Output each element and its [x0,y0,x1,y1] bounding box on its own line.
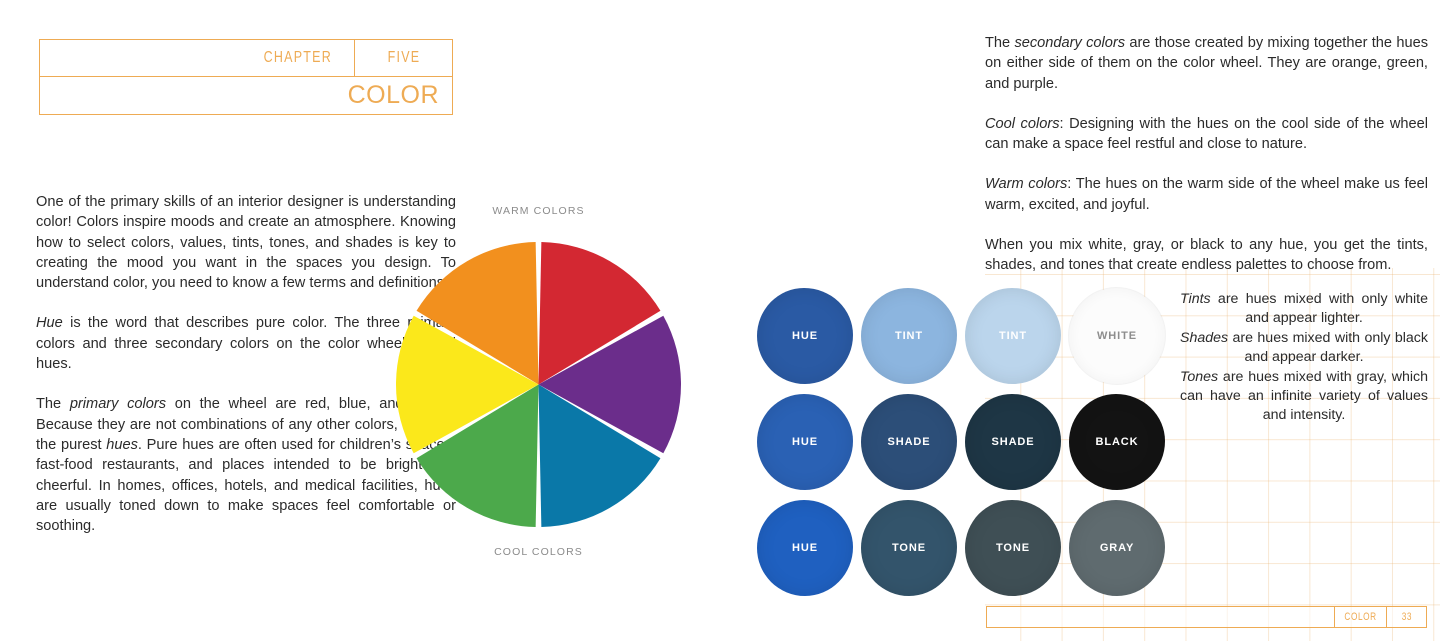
paint-swatch-grid: HUETINTTINTWHITEHUESHADESHADEBLACKHUETON… [757,288,1188,586]
swatch-black-r1c3: BLACK [1069,394,1165,490]
cool-colors-emphasis: Cool colors [985,116,1060,132]
warm-colors-emphasis: Warm colors [985,176,1067,192]
footer-spacer [987,607,1334,627]
swatch-label: TONE [892,542,926,554]
swatch-label: SHADE [887,436,930,448]
swatch-label: HUE [792,542,818,554]
left-body-column: One of the primary skills of an interior… [36,192,456,536]
chapter-number-cell: FIVE [354,40,452,76]
chapter-header-top-row: CHAPTER FIVE [39,39,453,77]
swatch-hue-r1c0: HUE [757,394,853,490]
secondary-part1: The [985,35,1014,51]
hue-emphasis: Hue [36,315,63,331]
swatch-hue-r2c0: HUE [757,500,853,596]
swatch-gray-r2c3: GRAY [1069,500,1165,596]
chapter-label: CHAPTER [264,49,332,67]
swatch-white-r0c3: WHITE [1069,288,1165,384]
cool-colors-label: COOL COLORS [396,546,681,558]
swatch-tone-r2c1: TONE [861,500,957,596]
paragraph-mixing: When you mix white, gray, or black to an… [985,235,1428,276]
swatch-label: TINT [999,330,1027,342]
color-wheel-figure: WARM COLORS COOL COLORS [396,200,681,568]
swatch-shades-row: HUESHADESHADEBLACK [757,394,1188,490]
page-footer-bar: COLOR 33 [986,606,1427,628]
hue-rest: is the word that describes pure color. T… [36,315,456,372]
shades-definition: Shades are hues mixed with only black an… [1180,329,1428,368]
swatch-shade-r1c1: SHADE [861,394,957,490]
swatch-label: HUE [792,436,818,448]
swatch-tints-row: HUETINTTINTWHITE [757,288,1188,384]
swatch-label: BLACK [1096,436,1139,448]
footer-page-number: 33 [1401,611,1411,623]
paragraph-primary-colors: The primary colors on the wheel are red,… [36,394,456,536]
swatch-label: TONE [996,542,1030,554]
book-spread-page: CHAPTER FIVE COLOR One of the primary sk… [0,0,1440,641]
chapter-number: FIVE [387,49,420,67]
paragraph-cool-colors: Cool colors: Designing with the hues on … [985,114,1428,155]
paragraph-secondary-colors: The secondary colors are those created b… [985,33,1428,94]
swatch-shade-r1c2: SHADE [965,394,1061,490]
tones-definition: Tones are hues mixed with gray, which ca… [1180,368,1428,426]
swatch-tint-r0c2: TINT [965,288,1061,384]
right-body-column: The secondary colors are those created b… [985,33,1428,276]
chapter-title-cell: COLOR [40,77,452,114]
footer-section-cell: COLOR [1334,607,1386,627]
tones-rest: are hues mixed with gray, which can have… [1180,369,1428,424]
shades-emphasis: Shades [1180,330,1228,346]
paragraph-warm-colors: Warm colors: The hues on the warm side o… [985,174,1428,215]
swatch-label: GRAY [1100,542,1134,554]
swatch-tint-r0c1: TINT [861,288,957,384]
tones-emphasis: Tones [1180,369,1218,385]
tints-rest: are hues mixed with only white and appea… [1211,291,1428,326]
primary-part1: The [36,396,70,412]
paragraph-hue: Hue is the word that describes pure colo… [36,313,456,374]
swatch-label: SHADE [991,436,1034,448]
swatch-tone-r2c2: TONE [965,500,1061,596]
primary-colors-emphasis: primary colors [70,396,166,412]
tints-emphasis: Tints [1180,291,1211,307]
hues-emphasis: hues [106,437,138,453]
swatch-label: TINT [895,330,923,342]
swatch-label: WHITE [1097,330,1137,342]
warm-colors-label: WARM COLORS [396,205,681,217]
page-title: COLOR [348,81,452,110]
swatch-label: HUE [792,330,818,342]
swatch-hue-r0c0: HUE [757,288,853,384]
footer-section-label: COLOR [1344,611,1376,623]
chapter-label-cell: CHAPTER [40,40,354,76]
paragraph-intro: One of the primary skills of an interior… [36,192,456,293]
footer-page-cell: 33 [1386,607,1426,627]
swatch-tones-row: HUETONETONEGRAY [757,500,1188,596]
color-wheel-diagram [396,242,681,527]
shades-rest: are hues mixed with only black and appea… [1228,330,1428,365]
definitions-caption: Tints are hues mixed with only white and… [1180,290,1428,426]
secondary-colors-emphasis: secondary colors [1014,35,1125,51]
tints-definition: Tints are hues mixed with only white and… [1180,290,1428,329]
chapter-header-bottom-row: COLOR [39,77,453,115]
chapter-header: CHAPTER FIVE COLOR [39,39,453,115]
